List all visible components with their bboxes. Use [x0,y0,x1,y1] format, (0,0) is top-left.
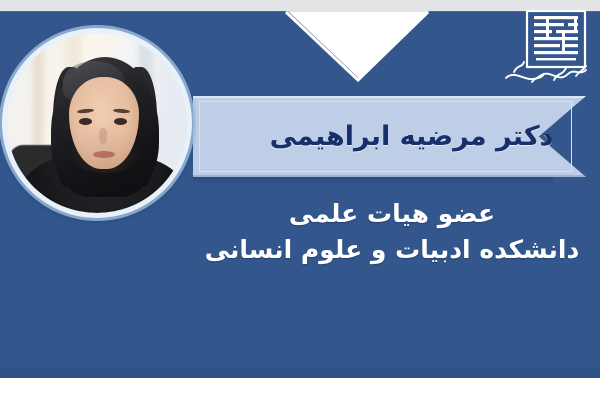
role-line: عضو هیات علمی [196,196,588,232]
v-notch-outline [282,8,432,84]
eye-right [114,118,127,125]
eye-left [79,118,92,125]
person-name: دکتر مرضیه ابراهیمی [193,96,586,177]
blue-panel-bottom-band [0,368,600,378]
nose [99,128,107,144]
subtitle-block: عضو هیات علمی دانشکده ادبیات و علوم انسا… [196,196,588,268]
faculty-line: دانشکده ادبیات و علوم انسانی [196,232,588,268]
ribbon-drop-shadow [193,177,553,184]
name-ribbon-banner: دکتر مرضیه ابراهیمی [193,96,586,177]
faculty-profile-card: دکتر مرضیه ابراهیمی عضو هیات علمی دا [0,0,600,400]
university-logo [496,6,592,92]
portrait-photo [7,33,187,213]
avatar [2,28,192,218]
mouth [93,151,115,158]
